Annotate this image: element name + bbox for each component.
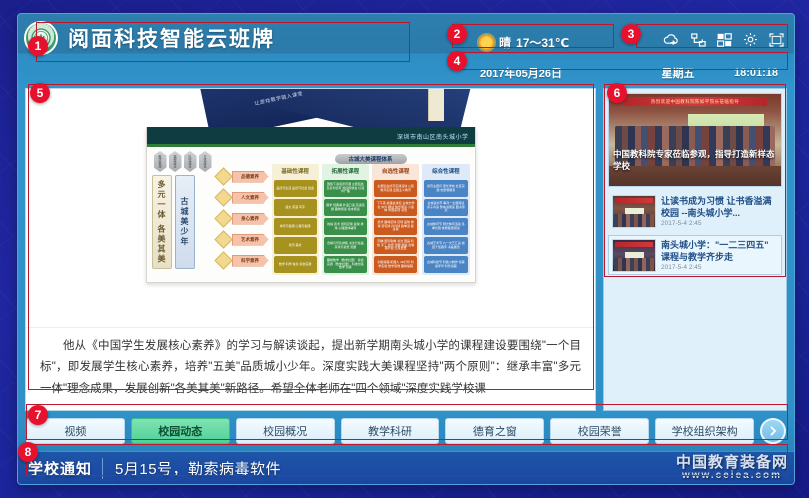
callout-marker-5: 5 [30, 83, 50, 103]
tab-teaching-research[interactable]: 教学科研 [341, 418, 440, 444]
callout-marker-4: 4 [447, 51, 467, 71]
hero-banner-text: 热烈欢迎中国教科院陈如平院长莅临指导 [623, 97, 768, 106]
category-cell: 语文 英语 写字 [274, 199, 317, 216]
hex-badge: 课程建设 [169, 151, 182, 172]
presentation-slide: 让游戏教学融入课堂 深圳市南山区南头城小学 教学管理 课程建设 [146, 89, 476, 283]
category-cell: 下午茶 故事会讲坛 古城文学社 中外 趣读 快乐阅读 小语种 中国篆刻 书法 [374, 199, 417, 216]
school-notice-bar[interactable]: 学校通知 5月15号，勒索病毒软件 中国教育装备网 www.ceiea.com [18, 451, 794, 484]
tab-campus-overview[interactable]: 校园概况 [236, 418, 335, 444]
diamond-icon [214, 209, 232, 227]
settings-gear-icon[interactable] [743, 32, 758, 47]
category-cell: 古城艺术节 六一文艺汇演 校园十佳歌手 书画展览 [424, 237, 467, 254]
category-cell: 数学 科学 信息 综合实践 [274, 256, 317, 273]
tab-campus-news[interactable]: 校园动态 [131, 418, 230, 444]
quality-row: 品德素养 [217, 167, 269, 186]
callout-marker-1: 1 [28, 36, 48, 56]
quality-tag: 人文素养 [232, 192, 269, 204]
notice-text: 5月15号，勒索病毒软件 [103, 458, 281, 479]
hex-label: 文化建设 [203, 155, 208, 168]
current-date: 2017年05月26日 [473, 65, 623, 81]
category-cells: 品德与生活 品德与社会 班会 语文 英语 写字 体育与健康 心理与健康 音乐 美… [272, 178, 319, 275]
callout-marker-3: 3 [621, 24, 641, 44]
content-area: 让游戏教学融入课堂 深圳市南山区南头城小学 教学管理 课程建设 [18, 82, 794, 411]
quality-column: 品德素养 人文素养 身心素养 [217, 151, 269, 275]
network-connection-icon[interactable] [691, 33, 706, 47]
slide-banner-photo: 让游戏教学融入课堂 [146, 89, 476, 127]
date-time-bar: 2017年05月26日 星期五 18:01:18 [473, 64, 786, 81]
category-cell: 校操 武术 游戏足球 篮球 排球 心理团体辅导 [324, 218, 367, 235]
tab-campus-honors[interactable]: 校园荣誉 [550, 418, 649, 444]
category-cell: 古城读书节 每月一主题阅读 亲子共读 整本书阅读 图书漂流 [424, 199, 467, 216]
news-list-item[interactable]: 南头城小学："一二三四五" 课程与教学齐步走 2017-5-4 2:45 [608, 235, 782, 275]
category-cell: 国学 经典诵 外语口语 英语话剧 趣味阅读 绘本阅读 [324, 199, 367, 216]
quality-tag: 身心素养 [232, 213, 269, 225]
hero-caption: 中国教科院专家莅临参观，指导打造新样态学校 [609, 149, 781, 172]
navigation-tabbar: 视频 校园动态 校园概况 教学科研 德育之窗 校园荣誉 学校组织架构 [18, 411, 794, 451]
notice-label: 学校通知 [28, 458, 103, 479]
current-weekday: 星期五 [623, 65, 733, 81]
center-pillar-label: 古城美少年 [175, 175, 195, 269]
news-date: 2017-5-4 2:45 [661, 264, 778, 271]
category-cell: 主题班会德育实践活动 公民教育实践 爱国主义教育 [374, 180, 417, 197]
diamond-icon [214, 251, 232, 269]
category-cell: 创客编程 机器人 3D打印 科学实验 数学思维 趣味编程 [374, 256, 417, 273]
category-cell: 音乐 美术 [274, 237, 317, 254]
curriculum-chart: 深圳市南山区南头城小学 教学管理 课程建设 队伍建设 文化建设 [146, 127, 476, 283]
category-header: 拓展性课程 [322, 164, 369, 178]
weather-condition: 晴 [499, 34, 511, 51]
current-time: 18:01:18 [733, 67, 786, 79]
watermark-line1: 中国教育装备网 [676, 455, 788, 471]
callout-marker-8: 8 [18, 442, 38, 462]
chart-left-column: 教学管理 课程建设 队伍建设 文化建设 多元一体 各美其美 古城美少年 [152, 151, 214, 275]
news-hero-item[interactable]: 热烈欢迎中国教科院陈如平院长莅临指导 中国教科院专家莅临参观，指导打造新样态学校 [608, 93, 782, 187]
apps-grid-icon[interactable] [717, 33, 732, 47]
category-cells: 国旗下讲话德育课 主题班会及系列德育 校园传统会 红领巾广播 国学 经典诵 外语… [322, 178, 369, 275]
hex-badge: 队伍建设 [184, 151, 197, 172]
category-cell: 古城科技节 科技小制作 创客嘉年华 科普讲座 [424, 256, 467, 273]
quality-tag: 艺术素养 [232, 234, 269, 246]
category-cell: 国旗下讲话德育课 主题班会及系列德育 校园传统会 红领巾广播 [324, 180, 367, 197]
quality-tag: 品德素养 [232, 171, 269, 183]
weather-temperature: 17～31℃ [516, 34, 569, 51]
app-title: 阅面科技智能云班牌 [68, 23, 275, 53]
news-list-item[interactable]: 让读书成为习惯 让书香溢满校园 --南头城小学... 2017-5-4 2:45 [608, 191, 782, 231]
news-title: 南头城小学："一二三四五" 课程与教学齐步走 [661, 239, 778, 262]
thumb-people [614, 214, 654, 227]
header-icon-group [663, 32, 784, 47]
diamond-icon [214, 230, 232, 248]
smart-classboard-device: 阅面科技智能云班牌 晴 17～31℃ [18, 14, 794, 484]
category-column: 综合性课程 德育主题月 家长学校 社区实践 志愿者服务 古城读书节 每月一主题阅… [422, 164, 469, 275]
pillar-row: 多元一体 各美其美 古城美少年 [152, 175, 214, 269]
weather-widget[interactable]: 晴 17～31℃ [479, 34, 569, 51]
site-watermark: 中国教育装备网 www.ceiea.com [676, 455, 788, 481]
news-thumbnail [612, 239, 656, 272]
category-cell: 武术 趣味足球 足球 篮球 排球 羽毛球 乒乓球 跆拳道 健身操 [374, 218, 417, 235]
quality-row: 人文素养 [217, 188, 269, 207]
category-cell: 品德与生活 品德与社会 班会 [274, 180, 317, 197]
main-content-panel: 让游戏教学融入课堂 深圳市南山区南头城小学 教学管理 课程建设 [25, 88, 596, 411]
cloud-sync-icon[interactable] [663, 33, 680, 47]
sun-icon [479, 35, 494, 50]
callout-marker-2: 2 [447, 24, 467, 44]
hex-badge: 教学管理 [154, 151, 167, 172]
news-title: 让读书成为习惯 让书香溢满校园 --南头城小学... [661, 195, 778, 218]
news-thumbnail [612, 195, 656, 228]
chart-school-name: 深圳市南山区南头城小学 [397, 132, 469, 141]
category-column: 自选性课程 主题班会德育实践活动 公民教育实践 爱国主义教育 下午茶 故事会讲坛… [372, 164, 419, 275]
category-cell: 围棋 国际象棋 书法 国画 科技 手工 剪纸 泥塑 舞蹈 合唱 葫芦丝 尤克里里 [374, 237, 417, 254]
callout-marker-6: 6 [607, 83, 627, 103]
hex-label: 课程建设 [173, 155, 178, 168]
chevron-right-icon[interactable] [760, 418, 786, 444]
chart-pill-title: 古城大美课程体系 [334, 154, 406, 164]
category-columns: 古城大美课程体系 基础性课程 品德与生活 品德与社会 班会 语文 英语 写字 体… [272, 151, 470, 275]
callout-marker-7: 7 [28, 405, 48, 425]
category-column: 基础性课程 品德与生活 品德与社会 班会 语文 英语 写字 体育与健康 心理与健… [272, 164, 319, 275]
quality-tag: 科学素养 [232, 255, 269, 267]
thumb-banner [615, 242, 653, 247]
category-cell: 趣味数学（数学社团） 综合实践（数学社团） 科技创造 数学 创客 [324, 256, 367, 273]
category-header: 综合性课程 [422, 164, 469, 178]
hex-badge: 文化建设 [199, 151, 212, 172]
news-text-block: 南头城小学："一二三四五" 课程与教学齐步走 2017-5-4 2:45 [661, 239, 778, 271]
tab-school-structure[interactable]: 学校组织架构 [655, 418, 754, 444]
news-panel: 热烈欢迎中国教科院陈如平院长莅临指导 中国教科院专家莅临参观，指导打造新样态学校… [603, 88, 787, 411]
slide-viewer[interactable]: 让游戏教学融入课堂 深圳市南山区南头城小学 教学管理 课程建设 [26, 89, 595, 327]
news-text-block: 让读书成为习惯 让书香溢满校园 --南头城小学... 2017-5-4 2:45 [661, 195, 778, 227]
description-paragraph: 他从《中国学生发展核心素养》的学习与解读谈起，提出新学期南头城小学的课程建设要围… [40, 336, 581, 400]
thumb-banner [615, 198, 653, 203]
chart-header: 深圳市南山区南头城小学 [147, 127, 475, 147]
tab-moral-education[interactable]: 德育之窗 [445, 418, 544, 444]
category-cell: 合唱与乐队排练 书法与绘画 墨戏与剪纸 泥塑 [324, 237, 367, 254]
diamond-icon [214, 167, 232, 185]
category-cell: 古城体育节 阳光体育活动 冬季长跑 体质健康测试 [424, 218, 467, 235]
banner-paper [428, 89, 444, 121]
category-cell: 体育与健康 心理与健康 [274, 218, 317, 235]
watermark-line2: www.ceiea.com [676, 471, 788, 482]
chart-body: 教学管理 课程建设 队伍建设 文化建设 多元一体 各美其美 古城美少年 [147, 147, 475, 277]
category-header: 自选性课程 [372, 164, 419, 178]
quality-row: 科学素养 [217, 251, 269, 270]
category-cells: 德育主题月 家长学校 社区实践 志愿者服务 古城读书节 每月一主题阅读 亲子共读… [422, 178, 469, 275]
brand-area: 阅面科技智能云班牌 [24, 16, 404, 60]
hex-badge-row: 教学管理 课程建设 队伍建设 文化建设 [154, 151, 214, 172]
left-pillar-label: 多元一体 各美其美 [152, 175, 172, 269]
category-column: 拓展性课程 国旗下讲话德育课 主题班会及系列德育 校园传统会 红领巾广播 国学 … [322, 164, 369, 275]
quality-row: 艺术素养 [217, 230, 269, 249]
header-bar: 阅面科技智能云班牌 晴 17～31℃ [18, 14, 794, 82]
hex-label: 教学管理 [158, 155, 163, 168]
diamond-icon [214, 188, 232, 206]
category-cell: 德育主题月 家长学校 社区实践 志愿者服务 [424, 180, 467, 197]
thumb-people [614, 258, 654, 271]
article-description: 他从《中国学生发展核心素养》的学习与解读谈起，提出新学期南头城小学的课程建设要围… [26, 327, 595, 410]
quality-row: 身心素养 [217, 209, 269, 228]
category-header: 基础性课程 [272, 164, 319, 178]
hex-label: 队伍建设 [188, 155, 193, 168]
category-cells: 主题班会德育实践活动 公民教育实践 爱国主义教育 下午茶 故事会讲坛 古城文学社… [372, 178, 419, 275]
news-date: 2017-5-4 2:45 [661, 220, 778, 227]
fullscreen-icon[interactable] [769, 33, 784, 47]
